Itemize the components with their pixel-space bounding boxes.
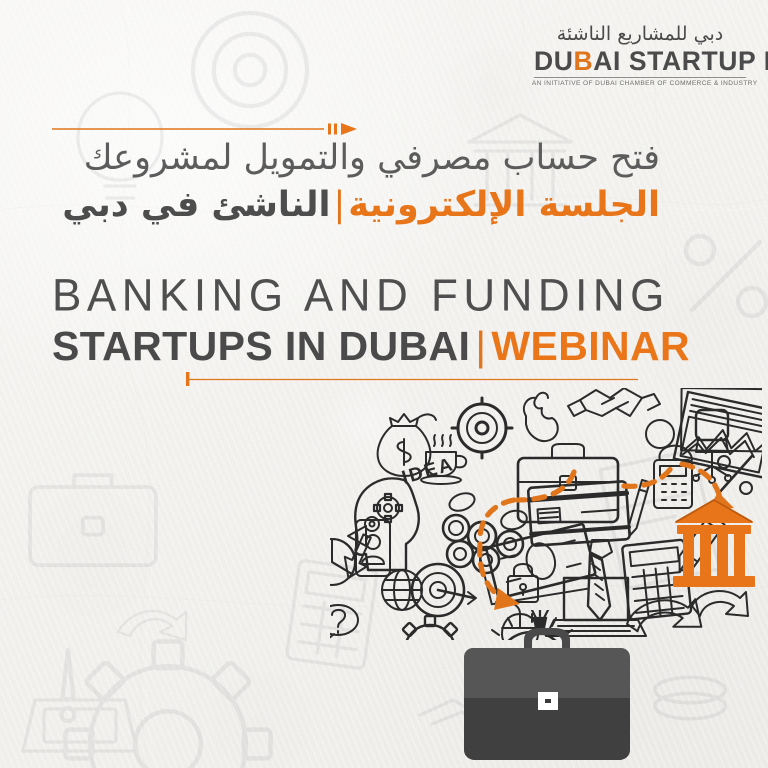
arabic-headline-line2: الجلسة الإلكترونية|الناشئ في دبي: [100, 183, 660, 228]
english-headline: BANKING AND FUNDING STARTUPS IN DUBAI|WE…: [52, 272, 672, 368]
headline-under-rule: [186, 372, 638, 386]
coins-icon: [443, 490, 529, 573]
briefcase-graphic: [452, 610, 642, 766]
head-with-gears-icon: [355, 478, 419, 570]
arabic-headline-separator: |: [331, 185, 349, 225]
logo-name-accent-letter: B: [573, 46, 593, 76]
logo-tagline: AN INITIATIVE OF DUBAI CHAMBER OF COMMER…: [532, 80, 748, 87]
briefcase-latch-keyhole: [545, 699, 551, 703]
english-headline-line1: BANKING AND FUNDING: [52, 272, 672, 320]
question-bubble-icon: [330, 605, 358, 640]
arabic-headline-orange: الجلسة الإلكترونية: [348, 185, 660, 225]
english-headline-line2: STARTUPS IN DUBAI|WEBINAR: [52, 325, 672, 368]
business-doodle-cluster: IDEA: [330, 388, 762, 640]
curve-arrow-outline-icon: [692, 591, 748, 616]
pencil-icon: [672, 514, 724, 576]
credit-card-icon: [528, 481, 630, 546]
logo-english-name: DUBAI STARTUP HUB: [534, 48, 746, 75]
poster-canvas: دبي للمشاريع الناشئة DUBAI STARTUP HUB A…: [0, 0, 768, 768]
orange-dashed-arrow-4: [624, 464, 674, 486]
abstract-shape-icon: [524, 393, 558, 441]
english-headline-orange: WEBINAR: [491, 323, 690, 369]
arabic-headline-dark: الناشئ في دبي: [62, 185, 330, 225]
english-headline-separator: |: [470, 323, 491, 369]
logo-arabic-name: دبي للمشاريع الناشئة: [534, 24, 746, 46]
briefcase-handle: [524, 628, 570, 650]
handshake-icon: [568, 388, 660, 416]
target-arrow-icon: [412, 564, 476, 616]
logo-divider-rule: [534, 77, 746, 78]
necktie-icon: [588, 540, 612, 620]
arabic-headline-line1: فتح حساب مصرفي والتمويل لمشروعك: [100, 136, 660, 181]
logo-name-part2: AI STARTUP HUB: [593, 46, 768, 76]
english-headline-dark: STARTUPS IN DUBAI: [52, 323, 470, 369]
target-icon: [452, 398, 512, 458]
logo-name-part1: DU: [534, 46, 573, 76]
headline-arrow-rule: [52, 122, 357, 136]
bank-building-icon: [674, 500, 754, 586]
arabic-headline: فتح حساب مصرفي والتمويل لمشروعك الجلسة ا…: [100, 136, 660, 228]
dubai-startup-hub-logo: دبي للمشاريع الناشئة DUBAI STARTUP HUB A…: [534, 24, 746, 87]
circle-shape-icon: [646, 420, 674, 448]
